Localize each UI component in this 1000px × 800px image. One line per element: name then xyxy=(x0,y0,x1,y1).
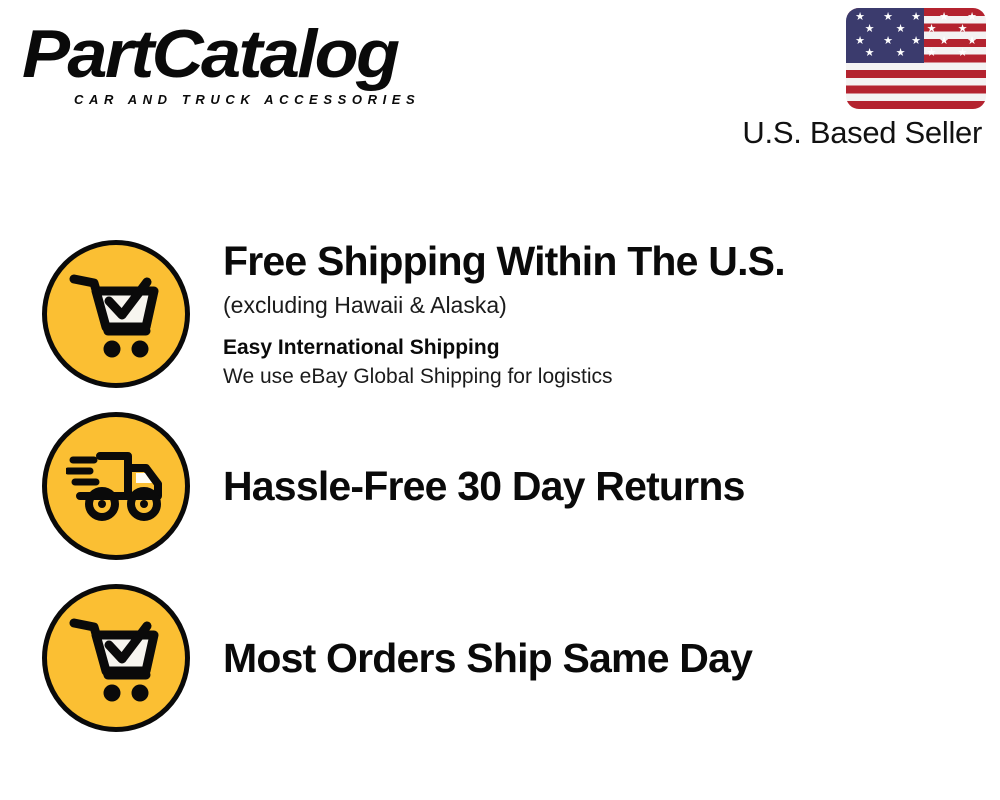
shopping-cart-check-icon xyxy=(42,584,190,732)
star-icon: ★ xyxy=(865,48,875,59)
brand-logo: PartCatalog CAR AND TRUCK ACCESSORIES xyxy=(22,18,492,118)
us-flag-icon: ★★★★★ ★★★★ ★★★★★ ★★★★ xyxy=(846,8,986,109)
star-icon: ★ xyxy=(855,12,865,23)
star-icon: ★ xyxy=(855,36,865,47)
brand-tagline: CAR AND TRUCK ACCESSORIES xyxy=(74,92,492,107)
feature-row: Most Orders Ship Same Day xyxy=(0,572,1000,744)
star-icon: ★ xyxy=(958,24,968,35)
shipping-info-banner: PartCatalog CAR AND TRUCK ACCESSORIES ★★… xyxy=(0,0,1000,800)
star-icon: ★ xyxy=(896,24,906,35)
feature-icon-wrap xyxy=(41,584,191,732)
flag-star-row: ★★★★★ xyxy=(846,12,986,23)
star-icon: ★ xyxy=(967,36,977,47)
feature-row: Hassle-Free 30 Day Returns xyxy=(0,400,1000,572)
star-icon: ★ xyxy=(911,36,921,47)
shopping-cart-check-icon xyxy=(42,240,190,388)
flag-star-row: ★★★★ xyxy=(846,48,986,59)
flag-star-row: ★★★★ xyxy=(846,24,986,35)
star-icon: ★ xyxy=(896,48,906,59)
star-icon: ★ xyxy=(865,24,875,35)
feature-title: Free Shipping Within The U.S. xyxy=(223,237,785,285)
feature-secondary-subtitle: We use eBay Global Shipping for logistic… xyxy=(223,363,785,391)
star-icon: ★ xyxy=(939,12,949,23)
us-based-seller-badge: ★★★★★ ★★★★ ★★★★★ ★★★★ U.S. Based Seller xyxy=(696,8,986,151)
star-icon: ★ xyxy=(939,36,949,47)
star-icon: ★ xyxy=(927,24,937,35)
seller-label: U.S. Based Seller xyxy=(696,115,982,151)
feature-subtitle: (excluding Hawaii & Alaska) xyxy=(223,290,785,320)
star-icon: ★ xyxy=(967,12,977,23)
feature-icon-wrap xyxy=(41,240,191,388)
star-icon: ★ xyxy=(927,48,937,59)
feature-text: Free Shipping Within The U.S. (excluding… xyxy=(223,237,785,391)
star-icon: ★ xyxy=(883,12,893,23)
feature-text: Hassle-Free 30 Day Returns xyxy=(223,462,745,510)
star-icon: ★ xyxy=(883,36,893,47)
star-icon: ★ xyxy=(911,12,921,23)
brand-wordmark: PartCatalog xyxy=(22,18,520,90)
feature-row: Free Shipping Within The U.S. (excluding… xyxy=(0,228,1000,400)
feature-secondary-title: Easy International Shipping xyxy=(223,334,785,361)
flag-star-row: ★★★★★ xyxy=(846,36,986,47)
feature-list: Free Shipping Within The U.S. (excluding… xyxy=(0,228,1000,744)
feature-title: Most Orders Ship Same Day xyxy=(223,634,752,682)
feature-text: Most Orders Ship Same Day xyxy=(223,634,752,682)
delivery-truck-icon xyxy=(42,412,190,560)
star-icon: ★ xyxy=(958,48,968,59)
feature-title: Hassle-Free 30 Day Returns xyxy=(223,462,745,510)
feature-icon-wrap xyxy=(41,412,191,560)
